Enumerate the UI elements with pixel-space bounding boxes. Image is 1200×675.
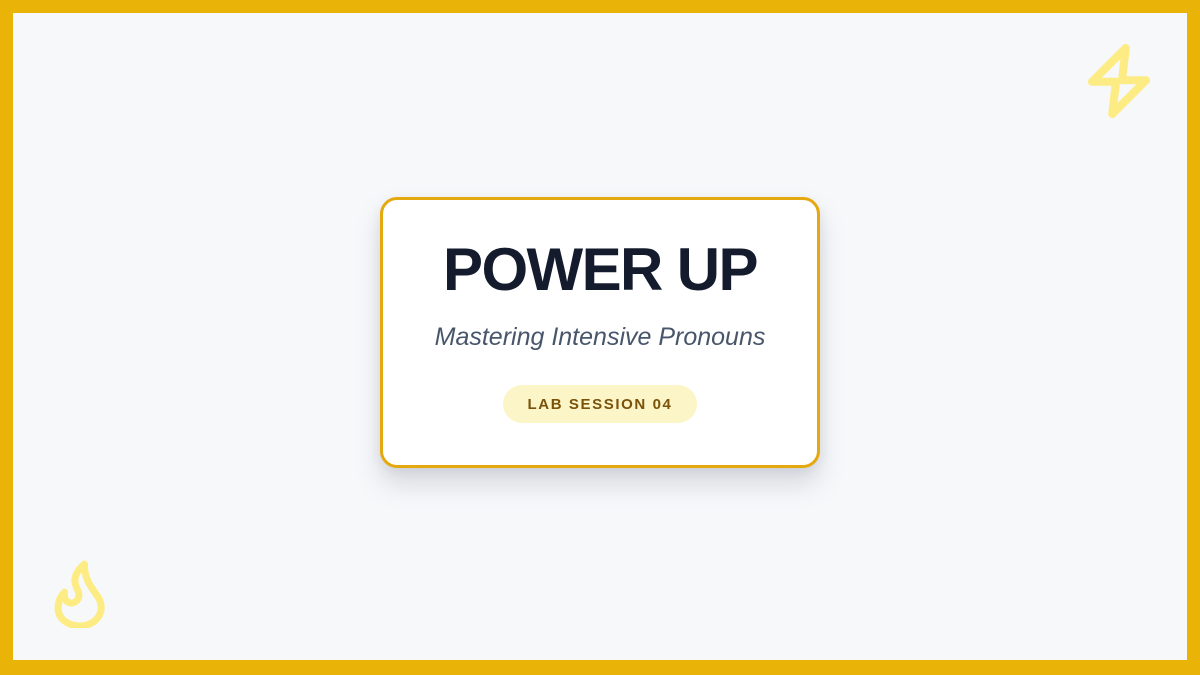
slide-frame: POWER UP Mastering Intensive Pronouns LA… <box>0 0 1200 675</box>
page-title: POWER UP <box>443 240 757 300</box>
card-subtitle: Mastering Intensive Pronouns <box>435 322 766 352</box>
card-container: POWER UP Mastering Intensive Pronouns LA… <box>13 13 1187 660</box>
status-badge: LAB SESSION 04 <box>503 385 698 423</box>
slide-canvas: POWER UP Mastering Intensive Pronouns LA… <box>13 13 1187 660</box>
title-card: POWER UP Mastering Intensive Pronouns LA… <box>380 197 820 468</box>
